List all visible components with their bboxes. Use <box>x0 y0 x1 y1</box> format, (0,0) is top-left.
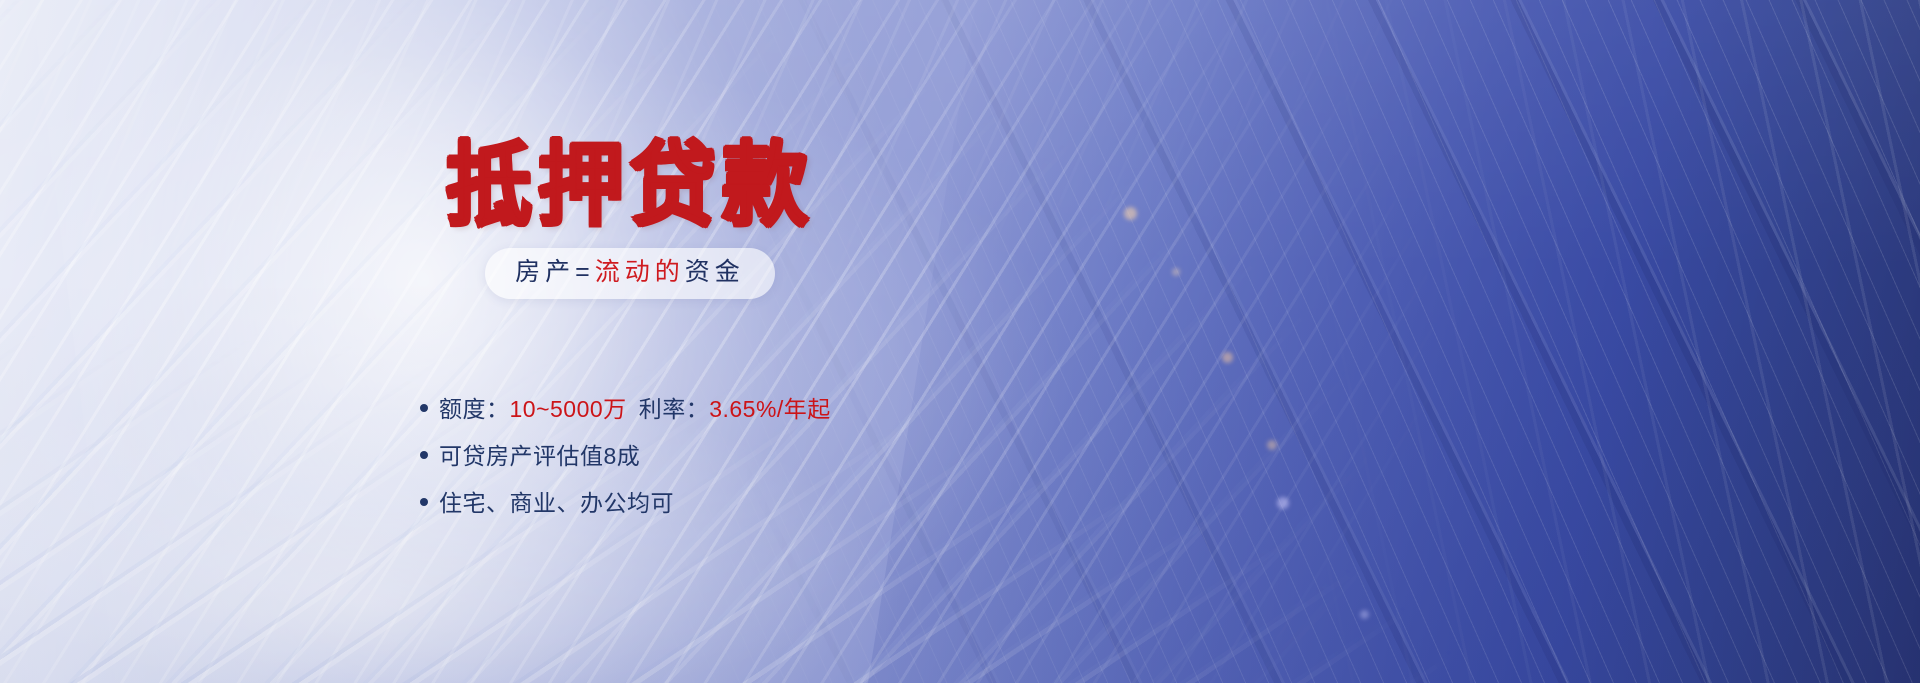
list-item: 住宅、商业、办公均可 <box>420 489 980 519</box>
bullet-1-segment-amount: 10~5000万 <box>510 396 627 422</box>
list-item: 额度：10~5000万利率：3.65%/年起 <box>420 395 980 425</box>
bullet-1-segment-rate-value: 3.65%/年起 <box>709 396 831 422</box>
list-item: 可贷房产评估值8成 <box>420 442 980 472</box>
bullet-dot-icon <box>420 404 428 412</box>
bullet-1-segment-rate-label: 利率： <box>639 396 710 422</box>
list-item-label: 住宅、商业、办公均可 <box>439 489 674 519</box>
subtitle-prefix: 房产= <box>515 258 595 286</box>
page-title: 抵押贷款 <box>420 140 840 231</box>
title-block: 抵押贷款 房产=流动的资金 <box>420 140 840 299</box>
bullet-dot-icon <box>420 451 428 459</box>
list-item-label: 可贷房产评估值8成 <box>439 442 640 472</box>
bullet-1-segment-label: 额度： <box>439 396 510 422</box>
bullet-dot-icon <box>420 498 428 506</box>
subtitle-highlight: 流动的 <box>595 258 685 286</box>
list-item-label: 额度：10~5000万利率：3.65%/年起 <box>439 395 831 425</box>
banner-content: 抵押贷款 房产=流动的资金 额度：10~5000万利率：3.65%/年起 可贷房… <box>0 0 1920 683</box>
feature-list: 额度：10~5000万利率：3.65%/年起 可贷房产评估值8成 住宅、商业、办… <box>420 395 980 536</box>
subtitle-pill: 房产=流动的资金 <box>485 248 775 299</box>
subtitle-suffix: 资金 <box>685 258 745 286</box>
mortgage-loan-banner: 抵押贷款 房产=流动的资金 额度：10~5000万利率：3.65%/年起 可贷房… <box>0 0 1920 683</box>
